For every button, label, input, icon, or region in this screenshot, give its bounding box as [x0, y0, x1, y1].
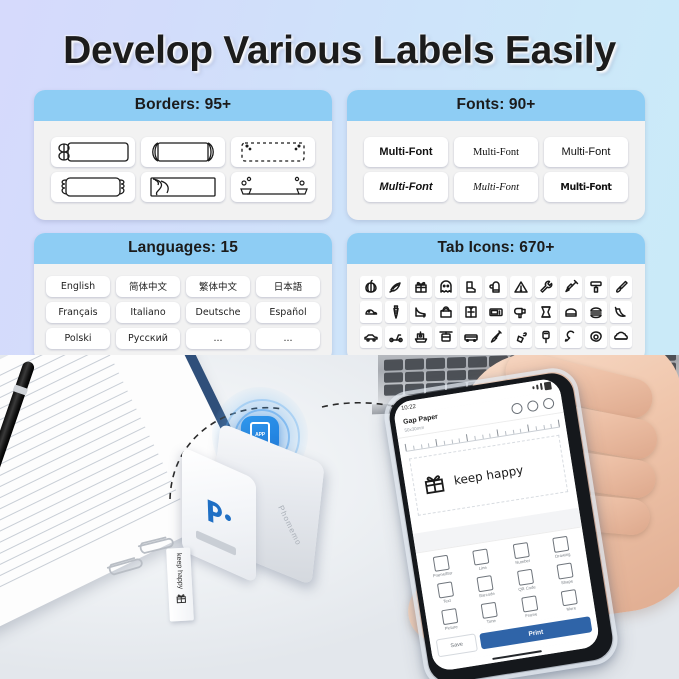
signal-icon [536, 384, 539, 389]
blender-icon[interactable] [535, 301, 557, 323]
tool-label: Picture [444, 624, 458, 631]
font-sample-bold[interactable]: Multi-Font [364, 137, 448, 167]
panel-fonts: Fonts: 90+ Multi-Font Multi-Font Multi-F… [347, 90, 645, 220]
frame-icon [432, 555, 449, 572]
barcode-icon [477, 575, 494, 592]
font-sample-serif-italic[interactable]: Multi-Font [454, 172, 538, 202]
panel-borders-title: Borders: 95+ [34, 90, 332, 121]
smartphone: 10:22 Gap Paper 50x30mm [386, 370, 615, 679]
printed-label-gift-icon [174, 592, 188, 606]
page-title: Develop Various Labels Easily [63, 29, 616, 73]
app-header-actions [511, 397, 555, 415]
canvas-gift-box-icon[interactable] [419, 469, 449, 499]
icon-row-1 [353, 276, 639, 298]
shirt-icon[interactable] [460, 301, 482, 323]
carrot-icon[interactable] [485, 326, 507, 348]
drawing-icon [552, 536, 569, 553]
bus-icon[interactable] [460, 326, 482, 348]
chicken-leg-icon[interactable] [560, 326, 582, 348]
burger-icon[interactable] [585, 301, 607, 323]
car-icon[interactable] [360, 326, 382, 348]
panel-fonts-body: Multi-Font Multi-Font Multi-Font Multi-F… [347, 121, 645, 220]
autumn-leaves-icon[interactable] [385, 276, 407, 298]
undo-icon[interactable] [511, 402, 524, 415]
panel-fonts-title: Fonts: 90+ [347, 90, 645, 121]
language-english[interactable]: English [46, 276, 110, 297]
font-sample-slab-bold[interactable]: Multi-Font [544, 172, 628, 202]
font-sample-italic[interactable]: Multi-Font [364, 172, 448, 202]
warning-triangle-icon[interactable] [510, 276, 532, 298]
number-icon [512, 542, 529, 559]
gift-box-icon[interactable] [410, 276, 432, 298]
tool-time[interactable]: Time [469, 598, 511, 629]
language-row: Français Italiano Deutsche Español [42, 302, 324, 323]
tool-barcode[interactable]: Barcode [465, 571, 507, 602]
fried-egg-icon[interactable] [585, 326, 607, 348]
language-more-1[interactable]: ... [186, 328, 250, 349]
menu-icon[interactable] [542, 397, 555, 410]
signal-icon [532, 386, 534, 389]
banana-icon[interactable] [610, 301, 632, 323]
candy-icon[interactable] [510, 326, 532, 348]
font-row: Multi-Font Multi-Font Multi-Font [355, 137, 637, 167]
tool-picture[interactable]: Picture [429, 604, 471, 635]
language-german[interactable]: Deutsche [186, 302, 250, 323]
panel-languages: Languages: 15 English 简体中文 繁体中文 日本語 Fran… [34, 233, 332, 363]
font-row: Multi-Font Multi-Font Multi-Font [355, 172, 637, 202]
printed-label-strip: keep happy [166, 547, 194, 621]
language-zh-hans[interactable]: 简体中文 [116, 276, 180, 297]
language-row: Polski Русский ... ... [42, 328, 324, 349]
font-sample-serif[interactable]: Multi-Font [454, 137, 538, 167]
paint-roller-icon[interactable] [585, 276, 607, 298]
border-thumb-dotted-corners[interactable] [231, 137, 315, 167]
language-french[interactable]: Français [46, 302, 110, 323]
panel-languages-title: Languages: 15 [34, 233, 332, 264]
cable-car-icon[interactable] [435, 326, 457, 348]
tool-drawing[interactable]: Drawing [541, 532, 583, 563]
language-polish[interactable]: Polski [46, 328, 110, 349]
redo-icon[interactable] [526, 399, 539, 412]
language-more-2[interactable]: ... [256, 328, 320, 349]
clock-icon [481, 602, 498, 619]
wrench-icon[interactable] [535, 276, 557, 298]
toaster-icon[interactable] [560, 301, 582, 323]
tool-label: Text [443, 598, 451, 604]
microwave-icon[interactable] [485, 301, 507, 323]
border-thumb-candy-left[interactable] [51, 137, 135, 167]
font-sample-regular[interactable]: Multi-Font [544, 137, 628, 167]
tool-label: Line [478, 565, 487, 571]
text-icon [437, 581, 454, 598]
panel-tab-icons-body [347, 264, 645, 363]
border-thumb-bubbles-cup[interactable] [231, 172, 315, 202]
border-row [42, 137, 324, 167]
status-indicators [532, 381, 552, 392]
line-icon [472, 548, 489, 565]
panel-borders: Borders: 95+ [34, 90, 332, 220]
paint-brush-icon[interactable] [610, 276, 632, 298]
tool-label: More [566, 605, 576, 611]
tool-label: Barcode [479, 591, 495, 598]
tool-number[interactable]: Number [501, 538, 543, 569]
picture-icon [441, 608, 458, 625]
cap-icon[interactable] [360, 301, 382, 323]
icon-row-3 [353, 326, 639, 348]
bread-icon[interactable] [610, 326, 632, 348]
border-row [42, 172, 324, 202]
battery-icon [544, 381, 552, 390]
high-heel-icon[interactable] [410, 301, 432, 323]
frame2-icon [521, 595, 538, 612]
mitten-icon[interactable] [485, 276, 507, 298]
tool-text[interactable]: Text [425, 578, 467, 609]
canvas-label-text[interactable]: keep happy [453, 463, 524, 488]
product-photo: APP Phomemo keep happy [0, 355, 679, 679]
tool-frame-border[interactable]: Frame/Bor [421, 551, 463, 582]
shovel-icon[interactable] [560, 276, 582, 298]
tool-qrcode[interactable]: QR Code [505, 565, 547, 596]
ghost-icon[interactable] [435, 276, 457, 298]
scooter-icon[interactable] [385, 326, 407, 348]
border-thumb-candy-wrap[interactable] [141, 137, 225, 167]
qrcode-icon [517, 569, 534, 586]
panel-languages-body: English 简体中文 繁体中文 日本語 Français Italiano … [34, 264, 332, 363]
border-thumb-ribbon-drape[interactable] [141, 172, 225, 202]
tool-label: Number [515, 558, 531, 565]
hair-dryer-icon[interactable] [510, 301, 532, 323]
tool-label: Shape [561, 578, 574, 585]
language-japanese[interactable]: 日本語 [256, 276, 320, 297]
boot-icon[interactable] [460, 276, 482, 298]
panel-borders-body [34, 121, 332, 220]
ship-icon[interactable] [410, 326, 432, 348]
language-spanish[interactable]: Español [256, 302, 320, 323]
popsicle-icon[interactable] [535, 326, 557, 348]
hand-holding-phone: 10:22 Gap Paper 50x30mm [408, 355, 679, 679]
language-russian[interactable]: Русский [116, 328, 180, 349]
icon-row-2 [353, 301, 639, 323]
border-thumb-bracket-scroll[interactable] [51, 172, 135, 202]
save-button[interactable]: Save [436, 633, 478, 657]
tool-frame2[interactable]: Frame [509, 592, 551, 623]
tool-more[interactable]: More [549, 585, 591, 616]
wifi-icon [540, 383, 543, 390]
tool-line[interactable]: Line [461, 545, 503, 576]
hero-banner: Develop Various Labels Easily [0, 20, 679, 82]
status-time: 10:22 [401, 403, 417, 411]
label-printer: Phomemo [182, 443, 318, 578]
feature-panel-grid: Borders: 95+ [34, 90, 645, 362]
shape-icon [557, 562, 574, 579]
app-header-titles: Gap Paper 50x30mm [403, 414, 440, 432]
language-italian[interactable]: Italiano [116, 302, 180, 323]
pumpkin-icon[interactable] [360, 276, 382, 298]
tool-label: Time [486, 618, 496, 624]
tool-label: Drawing [555, 552, 571, 559]
tool-shape[interactable]: Shape [545, 559, 587, 590]
language-zh-hant[interactable]: 繁体中文 [186, 276, 250, 297]
tool-label: Frame [525, 611, 538, 618]
necktie-icon[interactable] [385, 301, 407, 323]
panel-tab-icons: Tab Icons: 670+ [347, 233, 645, 363]
handbag-icon[interactable] [435, 301, 457, 323]
panel-tab-icons-title: Tab Icons: 670+ [347, 233, 645, 264]
more-icon [561, 589, 578, 606]
language-row: English 简体中文 繁体中文 日本語 [42, 276, 324, 297]
printed-label-text: keep happy [175, 553, 184, 590]
